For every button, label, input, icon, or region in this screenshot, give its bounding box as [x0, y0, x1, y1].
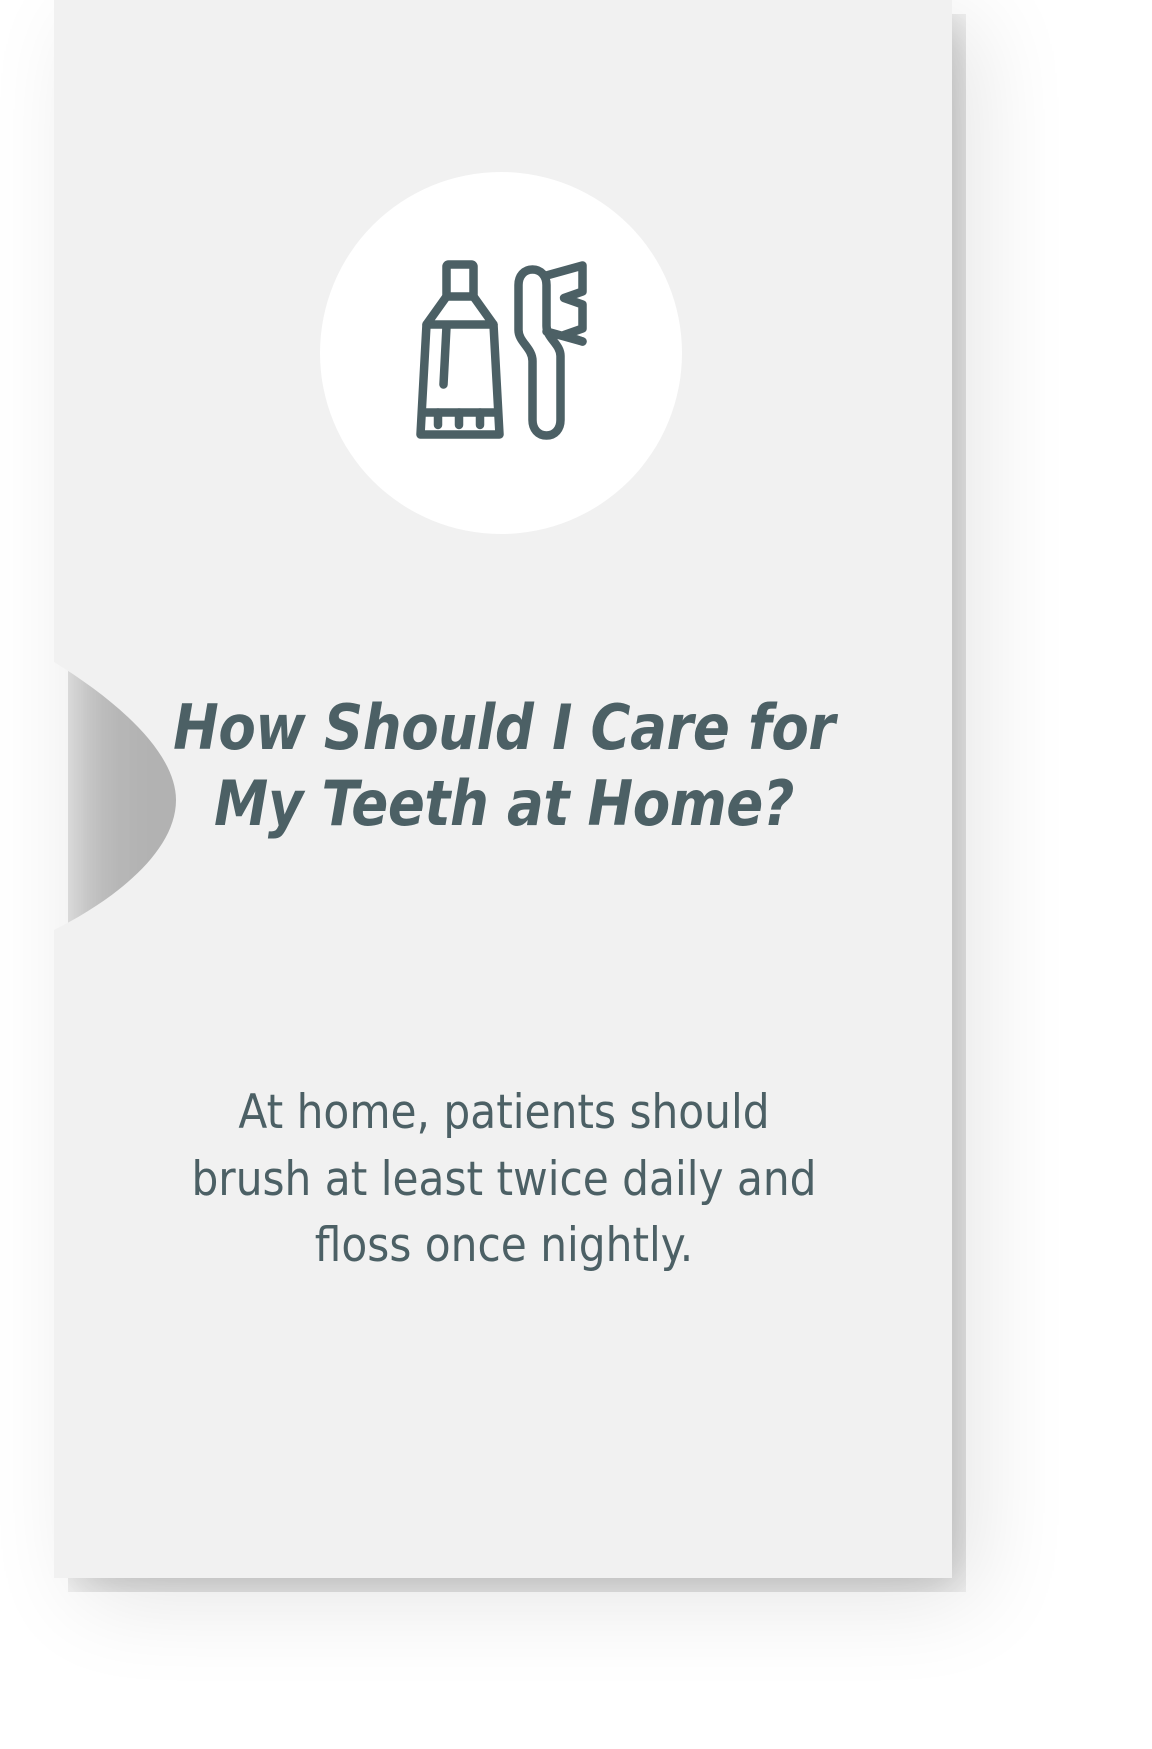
page-stage: How Should I Care for My Teeth at Home? … [0, 0, 1152, 1749]
icon-medallion [320, 172, 682, 534]
body-paragraph: At home, patients should brush at least … [144, 1080, 864, 1280]
toothpaste-and-toothbrush-icon [386, 238, 616, 468]
page-title: How Should I Care for My Teeth at Home? [170, 690, 839, 841]
info-card: How Should I Care for My Teeth at Home? … [54, 0, 952, 1578]
